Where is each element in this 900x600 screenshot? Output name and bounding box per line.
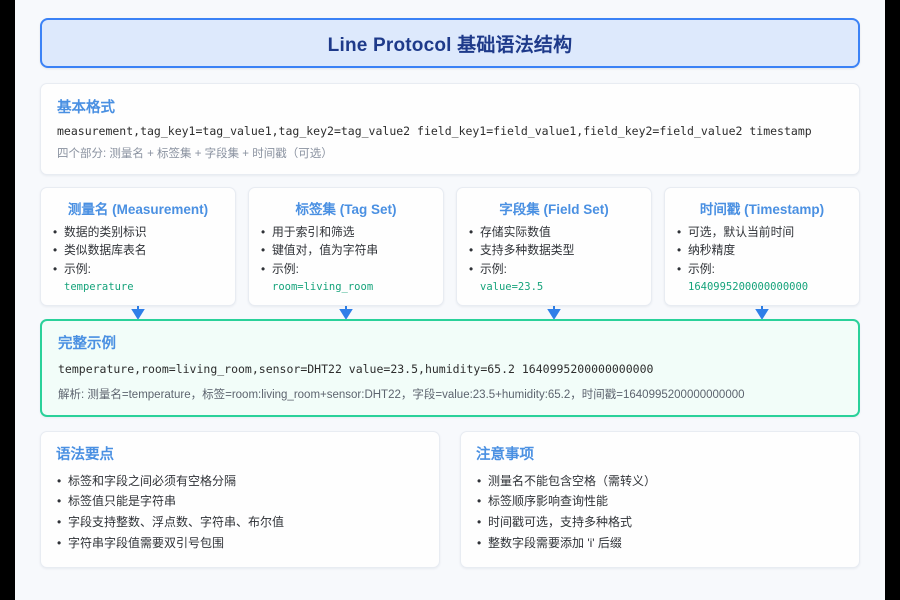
- syntax-points-title: 语法要点: [56, 443, 424, 464]
- component-code-example: value=23.5: [469, 281, 639, 293]
- component-bullet-list: 可选，默认当前时间 纳秒精度 示例:: [677, 223, 847, 278]
- list-item: 测量名不能包含空格（需转义）: [476, 471, 844, 492]
- complete-example-parse: 解析: 测量名=temperature，标签=room:living_room+…: [58, 386, 842, 402]
- connector-cell: [40, 305, 236, 319]
- component-code-example: room=living_room: [261, 281, 431, 293]
- list-item: 示例:: [53, 260, 223, 278]
- component-bullet-list: 存储实际数值 支持多种数据类型 示例:: [469, 223, 639, 278]
- list-item: 类似数据库表名: [53, 241, 223, 259]
- list-item: 标签值只能是字符串: [56, 491, 424, 512]
- component-cards-row: 测量名 (Measurement) 数据的类别标识 类似数据库表名 示例: te…: [40, 187, 860, 306]
- component-card-measurement: 测量名 (Measurement) 数据的类别标识 类似数据库表名 示例: te…: [40, 187, 236, 306]
- component-title: 时间戳 (Timestamp): [677, 198, 847, 218]
- cautions-card: 注意事项 测量名不能包含空格（需转义） 标签顺序影响查询性能 时间戳可选，支持多…: [460, 431, 860, 569]
- complete-example-title: 完整示例: [58, 332, 842, 353]
- arrow-down-icon: [130, 305, 146, 319]
- connector-cell: [664, 305, 860, 319]
- list-item: 示例:: [469, 260, 639, 278]
- list-item: 标签顺序影响查询性能: [476, 491, 844, 512]
- component-code-example: 1640995200000000000: [677, 281, 847, 293]
- component-title: 测量名 (Measurement): [53, 198, 223, 218]
- cautions-title: 注意事项: [476, 443, 844, 464]
- arrow-down-icon: [546, 305, 562, 319]
- list-item: 整数字段需要添加 'i' 后缀: [476, 533, 844, 554]
- bottom-panels-row: 语法要点 标签和字段之间必须有空格分隔 标签值只能是字符串 字段支持整数、浮点数…: [40, 431, 860, 569]
- component-title: 标签集 (Tag Set): [261, 198, 431, 218]
- complete-example-line: temperature,room=living_room,sensor=DHT2…: [58, 362, 842, 376]
- basic-format-card: 基本格式 measurement,tag_key1=tag_value1,tag…: [40, 83, 860, 175]
- list-item: 字段支持整数、浮点数、字符串、布尔值: [56, 512, 424, 533]
- connector-arrow-row: [40, 305, 860, 319]
- syntax-points-card: 语法要点 标签和字段之间必须有空格分隔 标签值只能是字符串 字段支持整数、浮点数…: [40, 431, 440, 569]
- list-item: 存储实际数值: [469, 223, 639, 241]
- syntax-points-list: 标签和字段之间必须有空格分隔 标签值只能是字符串 字段支持整数、浮点数、字符串、…: [56, 471, 424, 554]
- list-item: 用于索引和筛选: [261, 223, 431, 241]
- complete-example-card: 完整示例 temperature,room=living_room,sensor…: [40, 319, 860, 417]
- basic-format-title: 基本格式: [57, 96, 843, 117]
- component-card-field-set: 字段集 (Field Set) 存储实际数值 支持多种数据类型 示例: valu…: [456, 187, 652, 306]
- list-item: 标签和字段之间必须有空格分隔: [56, 471, 424, 492]
- list-item: 数据的类别标识: [53, 223, 223, 241]
- list-item: 时间戳可选，支持多种格式: [476, 512, 844, 533]
- list-item: 纳秒精度: [677, 241, 847, 259]
- list-item: 可选，默认当前时间: [677, 223, 847, 241]
- basic-format-note: 四个部分: 测量名 + 标签集 + 字段集 + 时间戳（可选）: [57, 145, 843, 161]
- component-bullet-list: 用于索引和筛选 键值对，值为字符串 示例:: [261, 223, 431, 278]
- arrow-down-icon: [754, 305, 770, 319]
- connector-cell: [456, 305, 652, 319]
- arrow-down-icon: [338, 305, 354, 319]
- page-title: Line Protocol 基础语法结构: [328, 30, 573, 57]
- list-item: 示例:: [677, 260, 847, 278]
- component-bullet-list: 数据的类别标识 类似数据库表名 示例:: [53, 223, 223, 278]
- component-code-example: temperature: [53, 281, 223, 293]
- list-item: 示例:: [261, 260, 431, 278]
- diagram-canvas: Line Protocol 基础语法结构 基本格式 measurement,ta…: [15, 0, 885, 600]
- header-banner: Line Protocol 基础语法结构: [40, 18, 860, 68]
- component-card-timestamp: 时间戳 (Timestamp) 可选，默认当前时间 纳秒精度 示例: 16409…: [664, 187, 860, 306]
- cautions-list: 测量名不能包含空格（需转义） 标签顺序影响查询性能 时间戳可选，支持多种格式 整…: [476, 471, 844, 554]
- list-item: 字符串字段值需要双引号包围: [56, 533, 424, 554]
- component-card-tag-set: 标签集 (Tag Set) 用于索引和筛选 键值对，值为字符串 示例: room…: [248, 187, 444, 306]
- connector-cell: [248, 305, 444, 319]
- list-item: 支持多种数据类型: [469, 241, 639, 259]
- basic-format-syntax: measurement,tag_key1=tag_value1,tag_key2…: [57, 124, 843, 138]
- list-item: 键值对，值为字符串: [261, 241, 431, 259]
- component-title: 字段集 (Field Set): [469, 198, 639, 218]
